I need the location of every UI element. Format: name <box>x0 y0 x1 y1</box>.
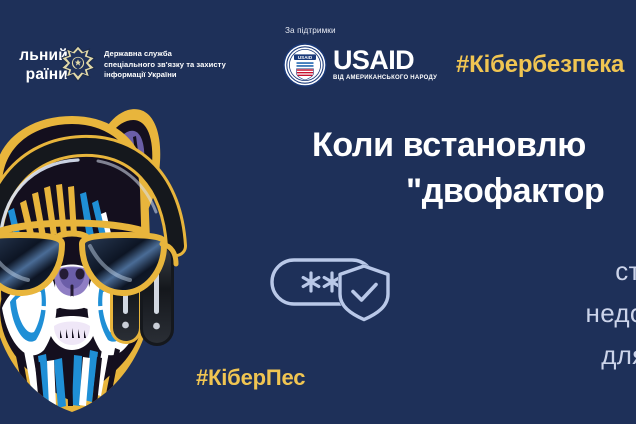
password-shield-icon <box>268 252 398 328</box>
headline-line-1: Коли встановлю <box>312 122 636 168</box>
cyber-dog-illustration <box>0 96 200 424</box>
svg-text:USAID: USAID <box>298 55 313 60</box>
usaid-wordmark: USAID <box>333 47 437 73</box>
sscip-logo-block: Державна служба спеціального зв'язку та … <box>60 45 226 85</box>
sscip-name: Державна служба спеціального зв'язку та … <box>104 49 226 80</box>
partner-wordmark-left: льний раїни <box>0 46 68 84</box>
headline-line-2: "двофактор <box>406 168 636 214</box>
subcopy-line-3: для ша <box>430 334 636 376</box>
cyber-dog-mascot <box>0 96 200 424</box>
sscip-line-1: Державна служба <box>104 49 226 59</box>
subcopy-line-2: недосяж <box>430 292 636 334</box>
partner-left-line-2: раїни <box>0 65 68 84</box>
sscip-emblem-icon <box>60 45 96 85</box>
partner-left-line-1: льний <box>0 46 68 65</box>
hashtag-cyberdog: #КіберПес <box>196 365 305 391</box>
usaid-seal-icon: USAID <box>283 43 327 87</box>
subcopy: стаєш недосяж для ша <box>430 250 636 376</box>
usaid-tagline: ВІД АМЕРИКАНСЬКОГО НАРОДУ <box>333 74 437 83</box>
cybersecurity-banner: льний раїни Державна служба спеціального… <box>0 0 636 424</box>
usaid-support-label: За підтримки <box>285 26 453 35</box>
subcopy-line-1: стаєш <box>430 250 636 292</box>
usaid-logo-block: За підтримки USAID <box>283 26 453 87</box>
password-shield-glyph <box>268 252 398 328</box>
headline: Коли встановлю "двофактор <box>312 122 636 214</box>
hashtag-cybersecurity: #Кібербезпека <box>456 51 624 79</box>
sscip-line-2: спеціального зв'язку та захисту <box>104 60 226 70</box>
top-logo-bar: льний раїни Державна служба спеціального… <box>0 0 636 102</box>
sscip-line-3: інформації України <box>104 70 226 80</box>
usaid-wordmark-block: USAID ВІД АМЕРИКАНСЬКОГО НАРОДУ <box>333 47 437 83</box>
usaid-lockup: USAID USAID ВІД АМЕРИКАНСЬКОГО НАРОДУ <box>283 43 453 87</box>
